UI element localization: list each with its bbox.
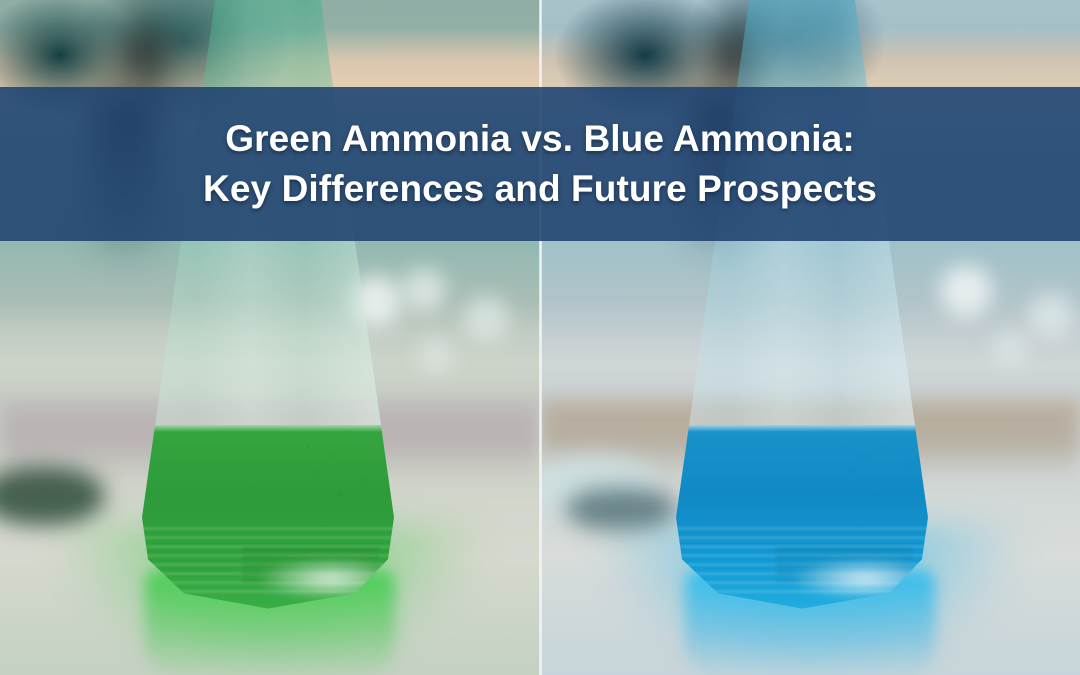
title-line-1: Green Ammonia vs. Blue Ammonia: <box>225 114 855 164</box>
title-line-2: Key Differences and Future Prospects <box>203 164 877 214</box>
comparison-hero-image: Green Ammonia vs. Blue Ammonia: Key Diff… <box>0 0 1080 675</box>
title-banner: Green Ammonia vs. Blue Ammonia: Key Diff… <box>0 87 1080 241</box>
